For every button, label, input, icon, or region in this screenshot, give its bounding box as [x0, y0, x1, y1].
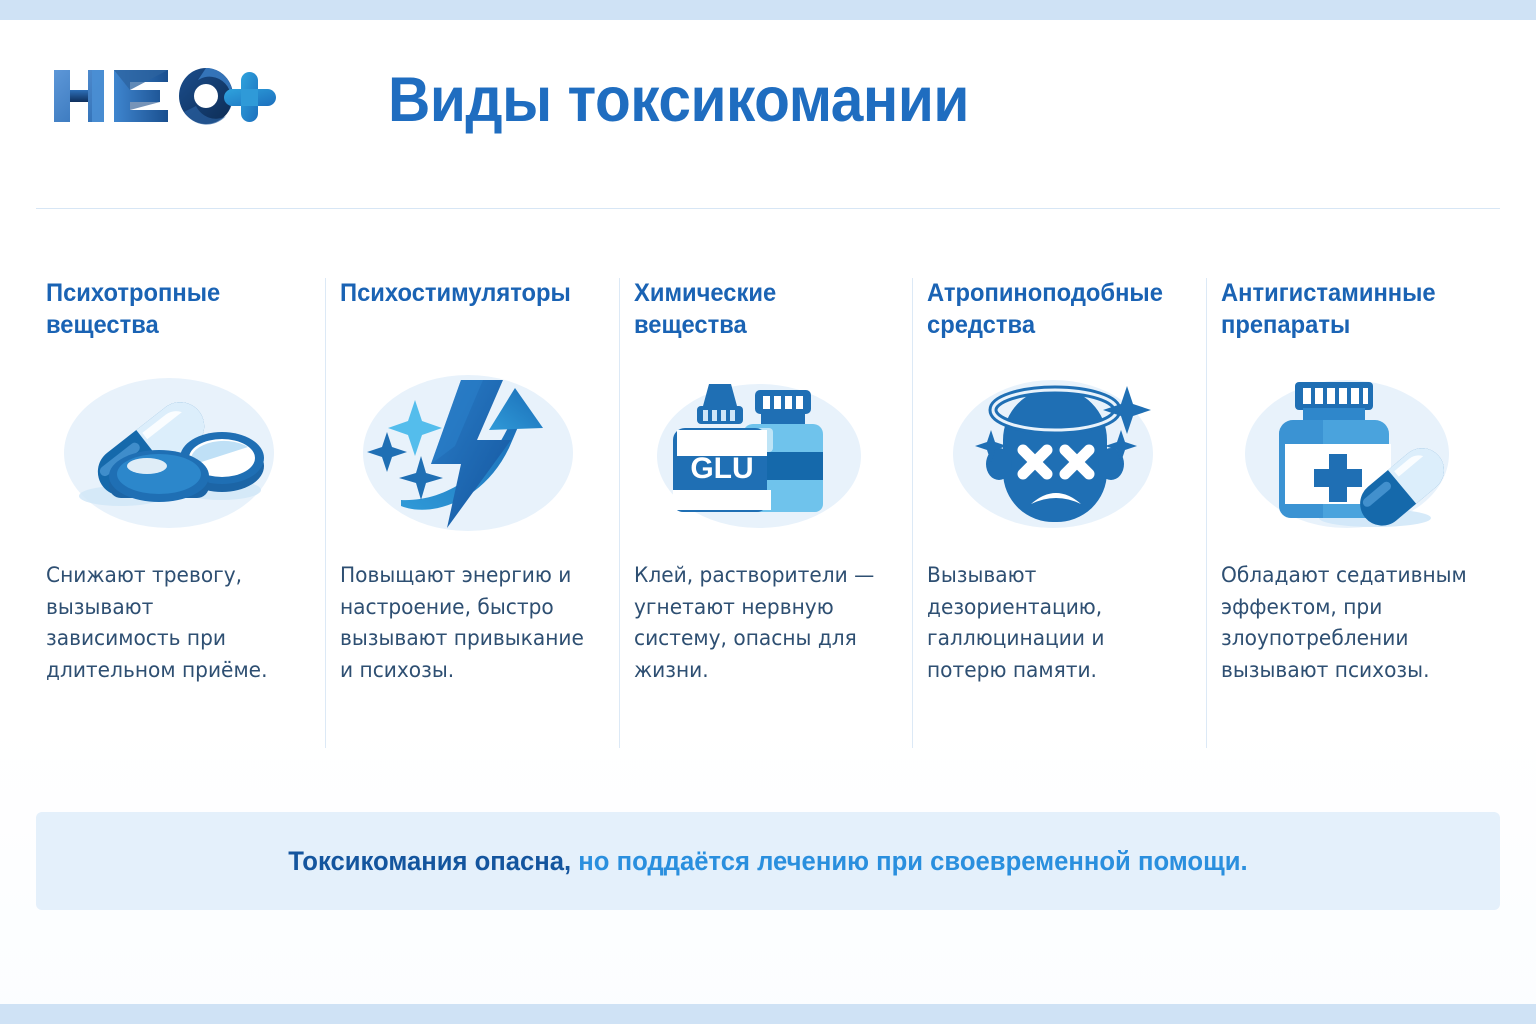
category-description: Клей, растворители — угнетают нервную си… — [634, 560, 881, 686]
infographic-page: Виды токсикомании Психотропные вещества — [0, 0, 1536, 1024]
category-card-stimulants: Психостимуляторы — [325, 278, 619, 748]
category-title: Психостимуляторы — [340, 278, 584, 344]
category-description: Обладают седативным эффектом, при злоупо… — [1221, 560, 1468, 686]
header: Виды токсикомании — [0, 20, 1536, 190]
header-divider — [36, 208, 1500, 209]
category-description: Снижают тревогу, вызывают зависимость пр… — [46, 560, 293, 686]
category-title: Химические вещества — [634, 278, 878, 344]
footer-banner-strong: Токсикомания опасна, — [288, 846, 571, 876]
dizzy-face-icon — [927, 368, 1184, 538]
category-description: Вызывают дезориентацию, галлюцинации и п… — [927, 560, 1174, 686]
footer-banner-text: Токсикомания опасна, но поддаётся лечени… — [288, 846, 1247, 877]
bottom-edge-strip — [0, 1004, 1536, 1024]
neo-plus-logo — [48, 62, 288, 130]
glue-solvent-bottles-icon: GLU — [634, 368, 891, 538]
category-card-atropine: Атропиноподобные средства — [912, 278, 1206, 748]
pills-capsule-icon — [46, 368, 303, 538]
category-card-chemicals: Химические вещества — [619, 278, 913, 748]
category-card-antihistamine: Антигистаминные препараты — [1206, 278, 1500, 748]
category-title: Антигистаминные препараты — [1221, 278, 1465, 344]
category-title: Психотропные вещества — [46, 278, 290, 344]
medicine-bottle-capsule-icon — [1221, 368, 1478, 538]
footer-banner-rest: но поддаётся лечению при своевременной п… — [571, 846, 1247, 876]
category-card-psychotropic: Психотропные вещества — [36, 278, 325, 748]
category-description: Повыщают энергию и настроение, быстро вы… — [340, 560, 587, 686]
glue-label: GLU — [690, 452, 753, 485]
page-title: Виды токсикомании — [388, 68, 969, 132]
categories-row: Психотропные вещества — [36, 278, 1500, 748]
lightning-bolt-arrow-icon — [340, 368, 597, 538]
top-edge-strip — [0, 0, 1536, 20]
footer-banner: Токсикомания опасна, но поддаётся лечени… — [36, 812, 1500, 910]
category-title: Атропиноподобные средства — [927, 278, 1171, 344]
